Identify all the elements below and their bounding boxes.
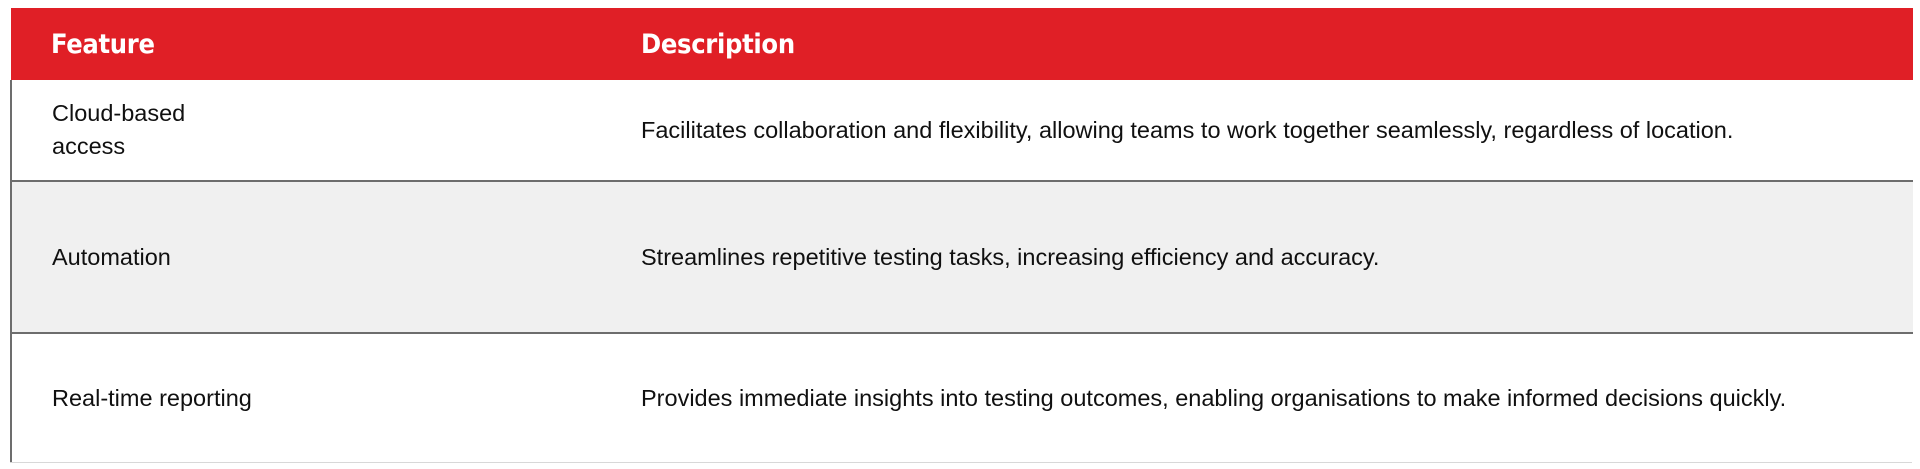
feature-label: Automation (12, 241, 641, 274)
description-text: Provides immediate insights into testing… (641, 382, 1913, 415)
feature-label: Real-time reporting (12, 382, 641, 415)
description-text: Streamlines repetitive testing tasks, in… (641, 241, 1913, 274)
cell-description: Provides immediate insights into testing… (641, 333, 1913, 462)
table-body: Cloud-based access Facilitates collabora… (11, 80, 1913, 462)
table-row: Real-time reporting Provides immediate i… (11, 333, 1913, 462)
table-row: Cloud-based access Facilitates collabora… (11, 80, 1913, 181)
cell-feature: Cloud-based access (11, 80, 641, 181)
feature-description-table-container: Feature Description Cloud-based access F… (10, 8, 1912, 462)
cell-description: Facilitates collaboration and flexibilit… (641, 80, 1913, 181)
cell-feature: Real-time reporting (11, 333, 641, 462)
table-header-row: Feature Description (11, 8, 1913, 80)
column-header-feature: Feature (11, 8, 641, 80)
column-header-description: Description (641, 8, 1913, 80)
table-row: Automation Streamlines repetitive testin… (11, 181, 1913, 333)
description-text: Facilitates collaboration and flexibilit… (641, 114, 1913, 147)
cell-feature: Automation (11, 181, 641, 333)
cell-description: Streamlines repetitive testing tasks, in… (641, 181, 1913, 333)
table-bottom-divider (10, 462, 1912, 463)
column-header-description-label: Description (641, 29, 1913, 60)
table-header: Feature Description (11, 8, 1913, 80)
feature-description-table: Feature Description Cloud-based access F… (10, 8, 1913, 462)
feature-label: Cloud-based access (12, 97, 641, 163)
